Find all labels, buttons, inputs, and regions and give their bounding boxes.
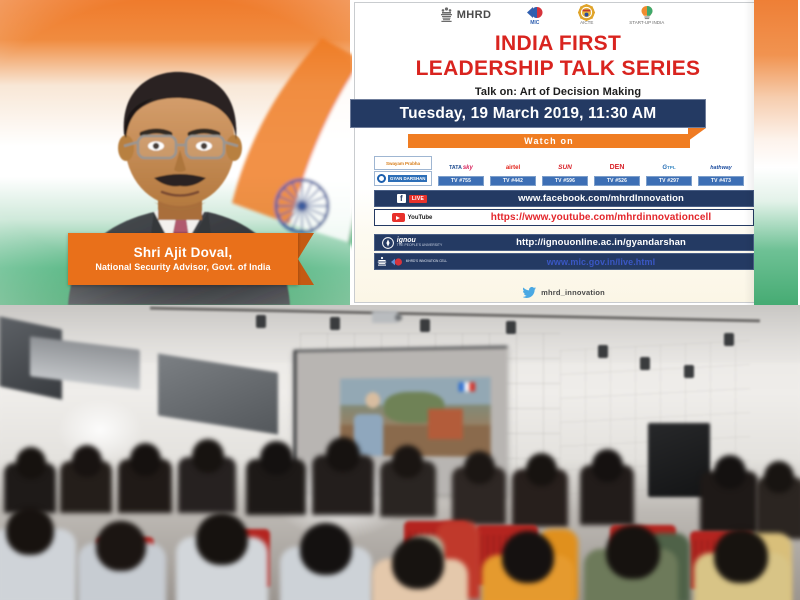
audience-member — [764, 461, 794, 493]
logo-mic: MIC — [525, 5, 544, 26]
ignou-sublabel: THE PEOPLE'S UNIVERSITY — [397, 244, 443, 247]
poster-header-logos: MHRD MIC — [350, 0, 754, 30]
audience-member — [130, 443, 161, 476]
poster-title-line2: LEADERSHIP TALK SERIES — [362, 57, 754, 82]
tata-sky-logo: TATA sky — [438, 161, 484, 174]
audience-member — [392, 537, 444, 589]
event-date-text: Tuesday, 19 March 2019, 11:30 AM — [400, 105, 657, 123]
audience-member — [464, 451, 495, 484]
tv-channel-item: G TPL TV #297 — [646, 161, 692, 186]
gyan-darshan-label: GYAN DARSHAN — [388, 175, 427, 182]
logo-aicte-label: AICTE — [580, 21, 593, 26]
ignou-url: http://ignouonline.ac.in/gyandarshan — [449, 237, 753, 248]
tv-channel-item: hathway TV #473 — [698, 161, 744, 186]
speaker-name: Shri Ajit Doval, — [134, 246, 233, 261]
twitter-handle: mhrd_innovation — [541, 288, 605, 297]
gyan-darshan-ring-icon — [377, 174, 386, 183]
tv-channel-item: airtel TV #442 — [490, 161, 536, 186]
date-ribbon-fold — [688, 128, 706, 141]
youtube-label: YouTube — [408, 215, 433, 221]
ignou-link-row[interactable]: ignou THE PEOPLE'S UNIVERSITY http://ign… — [374, 234, 754, 251]
ceiling-spotlight — [256, 315, 266, 328]
youtube-link-row[interactable]: YouTube https://www.youtube.com/mhrdinno… — [374, 209, 754, 226]
logo-startup-india-label: START-UP INDIA — [629, 21, 664, 26]
tv-channel-item: DEN TV #526 — [594, 161, 640, 186]
poster-tricolor-edge-strip — [754, 0, 800, 305]
startup-india-bulb-icon — [639, 5, 655, 21]
airtel-logo: airtel — [490, 161, 536, 174]
tv-channel-number: TV #297 — [646, 176, 692, 186]
twitter-handle-row[interactable]: mhrd_innovation — [374, 284, 754, 300]
audience-member — [196, 513, 248, 565]
ceiling-spotlight — [640, 357, 650, 370]
name-ribbon-tail — [298, 233, 314, 285]
audience-member — [72, 445, 102, 477]
hathway-logo: hathway — [698, 161, 744, 174]
ceiling-projector — [372, 311, 398, 323]
facebook-link-row[interactable]: f LIVE www.facebook.com/mhrdInnovation — [374, 190, 754, 207]
screenshot-root: Shri Ajit Doval, National Security Advis… — [0, 0, 800, 600]
aicte-gear-emblem-icon — [578, 4, 595, 21]
swayam-prabha-logo: Swayam Prabha — [374, 156, 432, 170]
facebook-icon: f — [397, 194, 406, 203]
ashoka-emblem-icon — [440, 6, 453, 24]
ceiling-spotlight — [598, 345, 608, 358]
mic-cell-label: MHRD'S INNOVATION CELL — [406, 260, 447, 264]
facebook-url: www.facebook.com/mhrdInnovation — [449, 193, 753, 204]
ceiling-spotlight — [420, 319, 430, 332]
ceiling-spotlight — [724, 333, 734, 346]
mic-logo-icon — [525, 5, 544, 20]
audience-member — [16, 447, 46, 479]
live-badge: LIVE — [409, 195, 427, 203]
den-logo: DEN — [594, 161, 640, 174]
audience-member — [96, 521, 146, 571]
audience-member — [260, 441, 293, 475]
mic-link-row[interactable]: MHRD'S INNOVATION CELL www.mic.gov.in/li… — [374, 253, 754, 270]
audience-member — [592, 449, 623, 482]
speaker-name-ribbon: Shri Ajit Doval, National Security Advis… — [68, 233, 298, 285]
ceiling-spotlight — [506, 321, 516, 334]
audience-member — [192, 439, 224, 473]
ignou-seal-icon — [382, 237, 394, 249]
speaker-designation: National Security Advisor, Govt. of Indi… — [95, 262, 270, 272]
poster-title-block: INDIA FIRST LEADERSHIP TALK SERIES Talk … — [362, 32, 754, 98]
mic-url: www.mic.gov.in/live.html — [449, 257, 753, 267]
twitter-icon — [523, 287, 536, 298]
audience-member — [714, 455, 746, 489]
facebook-badge: f LIVE — [375, 191, 449, 206]
youtube-badge: YouTube — [375, 210, 449, 225]
event-poster: MHRD MIC — [350, 0, 800, 305]
poster-subtitle: Talk on: Art of Decision Making — [362, 86, 754, 98]
video-channel-bug — [459, 382, 475, 391]
poster-edge-shadow — [744, 0, 754, 305]
mic-badge: MHRD'S INNOVATION CELL — [375, 254, 449, 269]
poster-title-line1: INDIA FIRST — [362, 32, 754, 57]
youtube-url: https://www.youtube.com/mhrdinnovationce… — [449, 212, 753, 223]
tv-channel-number: TV #442 — [490, 176, 536, 186]
event-date-banner: Tuesday, 19 March 2019, 11:30 AM — [350, 99, 706, 128]
audience-member — [326, 437, 360, 472]
ashoka-emblem-icon — [377, 256, 387, 268]
ceiling-spotlight — [684, 365, 694, 378]
audience-member — [606, 525, 660, 579]
gtpl-logo: G TPL — [646, 161, 692, 174]
logo-mhrd-label: MHRD — [457, 9, 492, 21]
stream-links-list: f LIVE www.facebook.com/mhrdInnovation Y… — [374, 190, 754, 272]
tv-channel-item: SUN TV #596 — [542, 161, 588, 186]
watch-on-label: Watch on — [524, 136, 574, 146]
audience-member — [6, 507, 54, 555]
logo-mic-label: MIC — [530, 20, 539, 26]
tv-channels-strip: Swayam Prabha GYAN DARSHAN TATA sky TV #… — [374, 150, 754, 186]
tv-channel-item: TATA sky TV #755 — [438, 161, 484, 186]
audience-member — [300, 523, 352, 575]
ignou-badge: ignou THE PEOPLE'S UNIVERSITY — [375, 235, 449, 250]
audience-seating — [0, 425, 800, 600]
logo-startup-india: START-UP INDIA — [629, 5, 664, 26]
logo-aicte: AICTE — [578, 4, 595, 26]
tv-channel-number: TV #596 — [542, 176, 588, 186]
tv-channel-number: TV #526 — [594, 176, 640, 186]
top-composite: Shri Ajit Doval, National Security Advis… — [0, 0, 800, 305]
audience-member — [392, 445, 423, 478]
video-speaker-head — [365, 392, 380, 408]
ceiling-spotlight — [330, 317, 340, 330]
mic-logo-icon — [390, 257, 403, 267]
audience-member — [526, 453, 557, 486]
sun-direct-logo: SUN — [542, 161, 588, 174]
gyan-darshan-logo: GYAN DARSHAN — [374, 171, 432, 186]
audience-member — [502, 531, 554, 583]
tv-channel-number: TV #755 — [438, 176, 484, 186]
audience-member — [714, 529, 768, 583]
auditorium-photo — [0, 305, 800, 600]
broadcast-platform-logos: Swayam Prabha GYAN DARSHAN — [374, 156, 432, 186]
logo-mhrd: MHRD — [440, 6, 492, 24]
swayam-prabha-label: Swayam Prabha — [386, 161, 420, 166]
watch-on-bar: Watch on — [408, 134, 690, 148]
tv-channel-number: TV #473 — [698, 176, 744, 186]
youtube-icon — [392, 213, 405, 222]
